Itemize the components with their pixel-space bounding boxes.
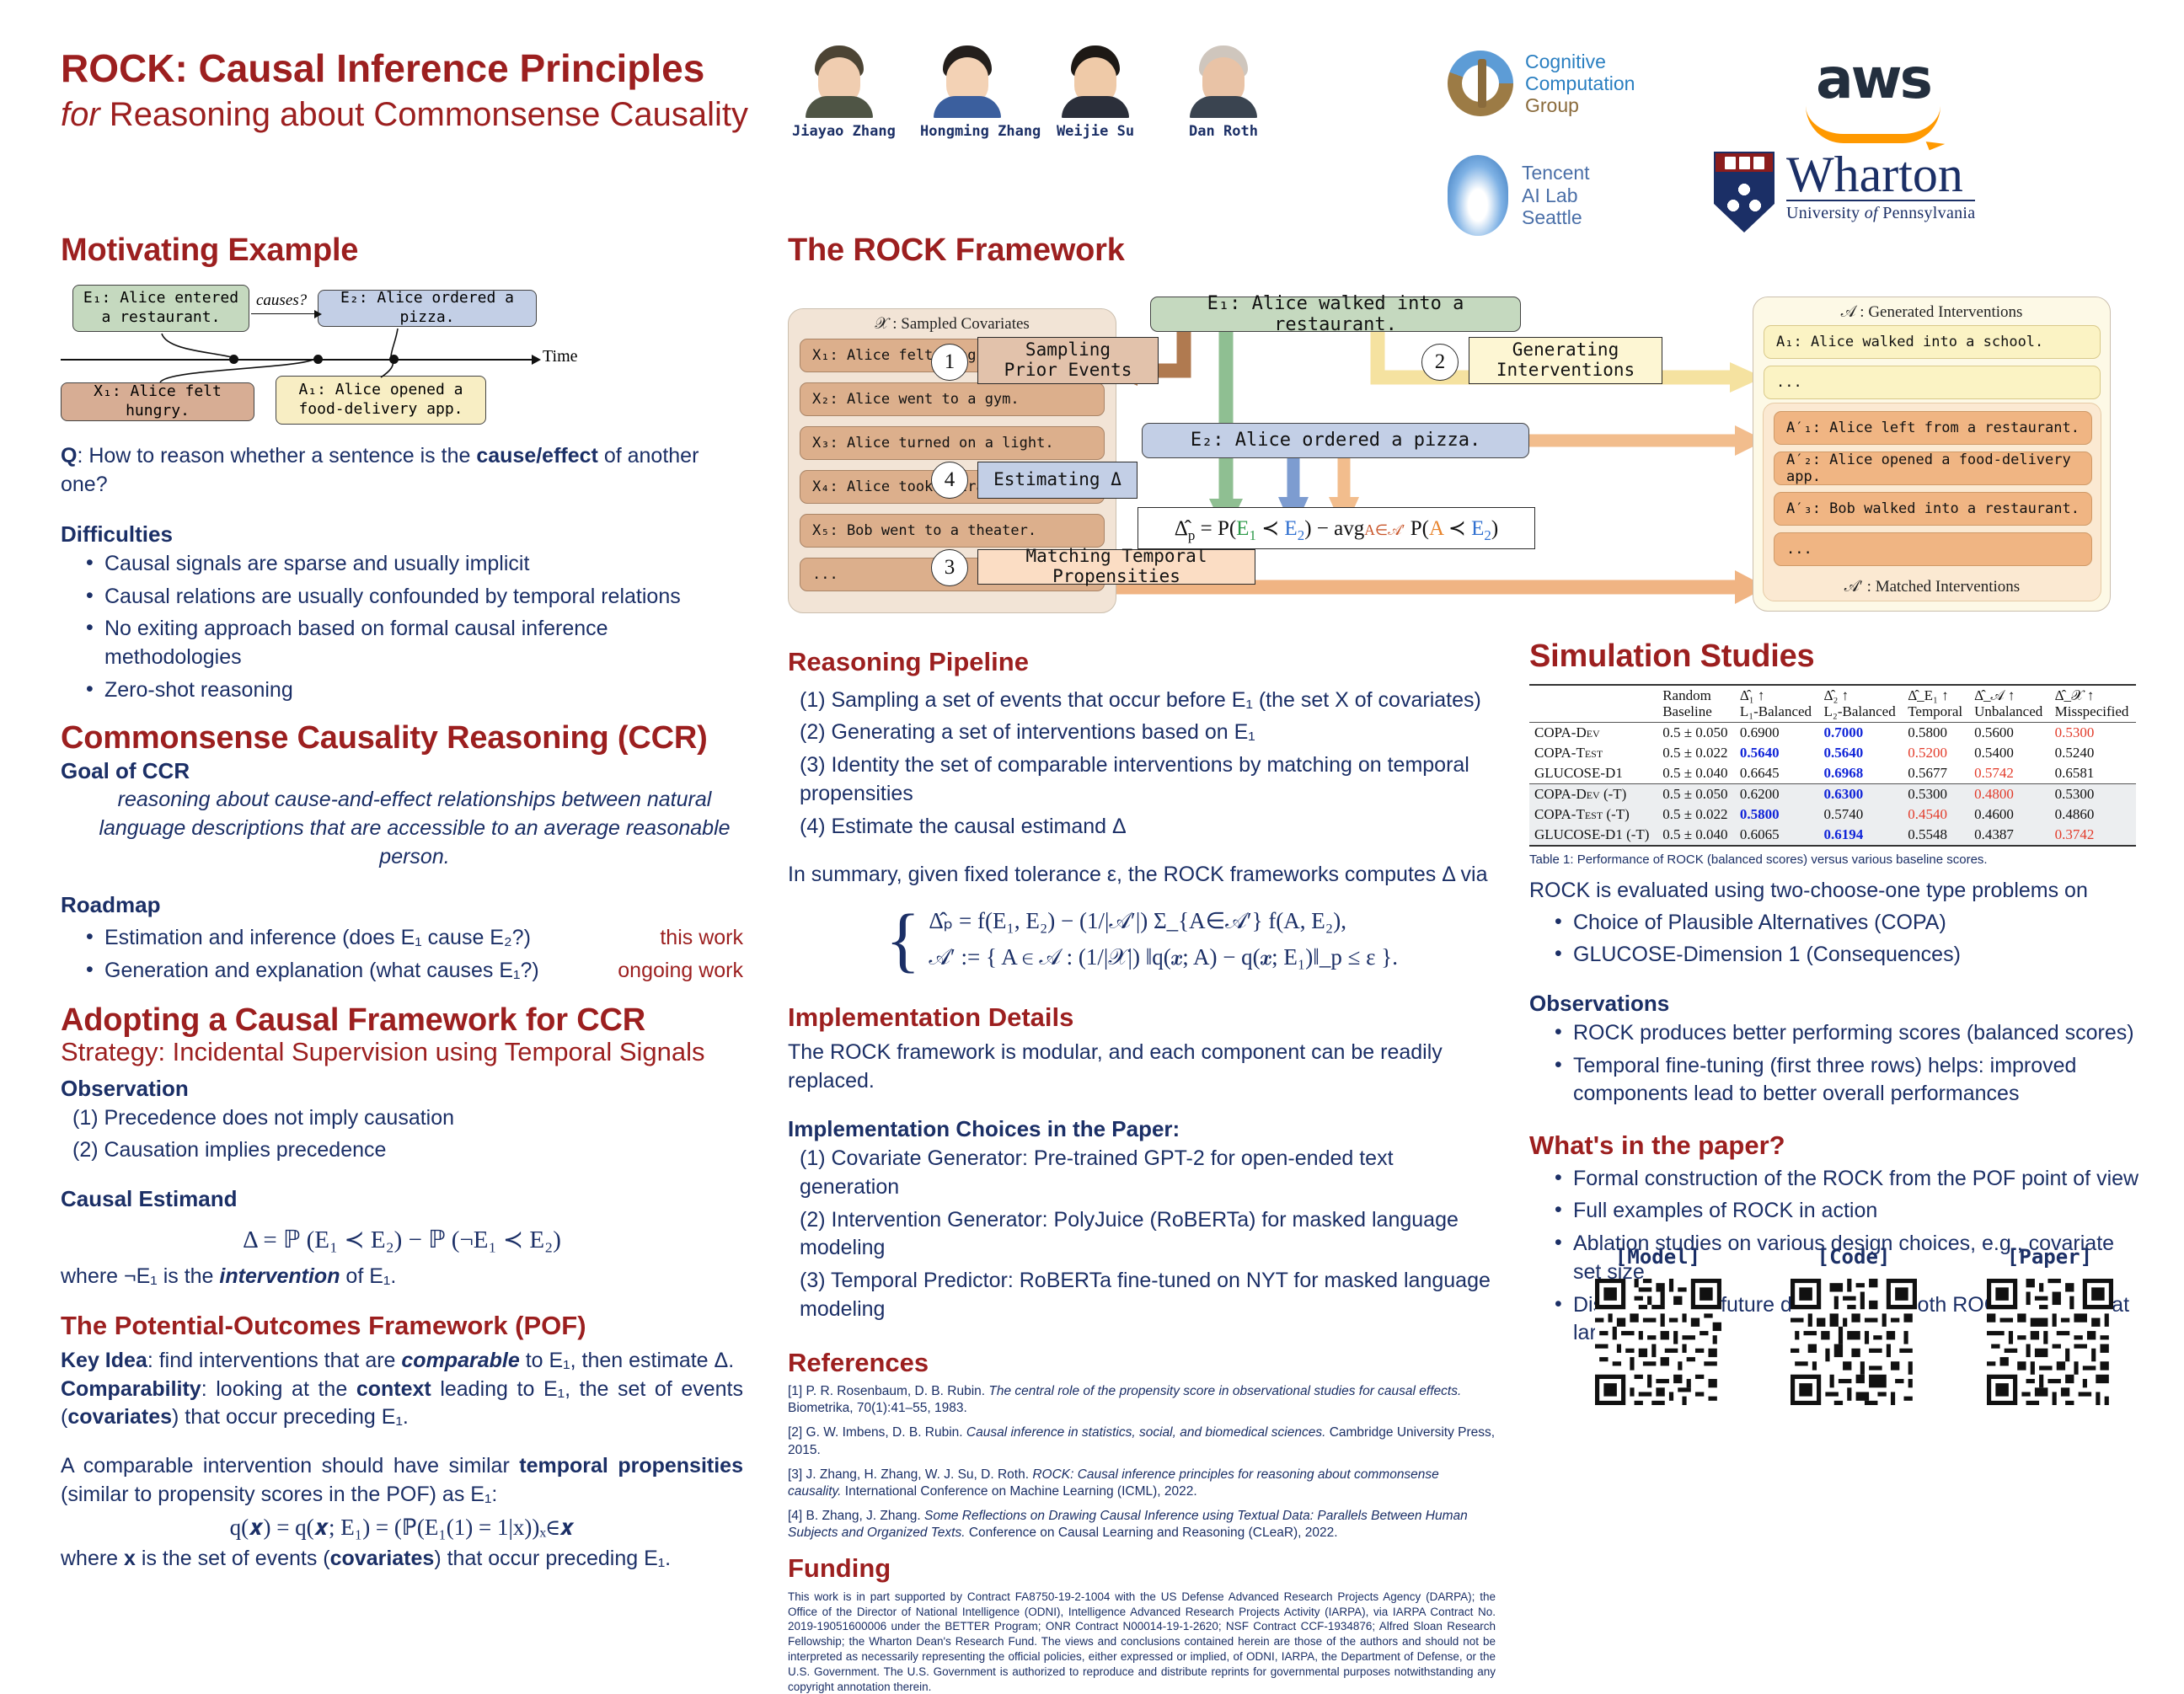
tencent-line-1: Tencent bbox=[1522, 162, 1590, 184]
subtitle-rest: Reasoning about Commonsense Causality bbox=[100, 96, 748, 133]
step-4-badge: 4 bbox=[931, 462, 968, 499]
tencent-logo-text: Tencent AI Lab Seattle bbox=[1522, 162, 1590, 229]
pof-paragraph-2: A comparable intervention should have si… bbox=[61, 1452, 743, 1510]
step-3-badge: 3 bbox=[931, 549, 968, 586]
diagram-box-e2: E₂: Alice ordered a pizza. bbox=[318, 290, 537, 327]
pipeline-summary: In summary, given fixed tolerance ε, the… bbox=[788, 861, 1496, 890]
qr-model[interactable]: [Model] bbox=[1584, 1245, 1732, 1409]
reference-item: [3] J. Zhang, H. Zhang, W. J. Su, D. Rot… bbox=[788, 1467, 1496, 1500]
row-label: GLUCOSE-D1 (-T) bbox=[1529, 825, 1657, 846]
list-item: GLUCOSE-Dimension 1 (Consequences) bbox=[1555, 941, 2144, 970]
framework-box-e2: E₂: Alice ordered a pizza. bbox=[1142, 423, 1529, 458]
avatar bbox=[804, 40, 875, 118]
step-4-box: Estimating Δ bbox=[977, 462, 1137, 499]
qr-code-label: [Code] bbox=[1780, 1245, 1928, 1269]
step-1-box: Sampling Prior Events bbox=[977, 337, 1159, 384]
roadmap-item-text: Generation and explanation (what causes … bbox=[104, 957, 539, 986]
key-idea-emphasis: comparable bbox=[401, 1349, 519, 1372]
ccg-mark-icon bbox=[1448, 51, 1513, 116]
col-header-random-baseline: RandomBaseline bbox=[1657, 685, 1735, 723]
col-header-delta-x: Δ̂_𝒳 ↑Misspecified bbox=[2050, 685, 2136, 723]
diagram-box-e1: E₁: Alice entered a restaurant. bbox=[72, 285, 249, 332]
wharton-wordmark: Wharton bbox=[1786, 152, 1975, 198]
list-item: Choice of Plausible Alternatives (COPA) bbox=[1555, 909, 2144, 938]
list-item: No exiting approach based on formal caus… bbox=[86, 615, 743, 672]
step-2-box: Generating Interventions bbox=[1469, 337, 1662, 384]
wharton-subtitle: University of Pennsylvania bbox=[1786, 200, 1975, 223]
row-label: COPA-Test bbox=[1529, 743, 1657, 763]
pof-comparability: Comparability: looking at the context le… bbox=[61, 1376, 743, 1433]
list-item: Temporal fine-tuning (first three rows) … bbox=[1555, 1052, 2144, 1109]
section-title-simulation-studies: Simulation Studies bbox=[1529, 640, 2144, 674]
cell: 0.4860 bbox=[2050, 804, 2136, 825]
question-q-label: Q bbox=[61, 444, 77, 468]
list-item: Causal relations are usually confounded … bbox=[86, 583, 743, 612]
roadmap-item-text: Estimation and inference (does E₁ cause … bbox=[104, 924, 531, 953]
poster-title-block: ROCK: Causal Inference Principles for Re… bbox=[61, 47, 819, 135]
roadmap-list: Estimation and inference (does E₁ cause … bbox=[61, 924, 743, 986]
qr-code-icon[interactable] bbox=[1791, 1279, 1917, 1405]
cell: 0.5300 bbox=[2050, 722, 2136, 743]
author-name: Jiayao Zhang bbox=[792, 123, 886, 140]
table-row: GLUCOSE-D1 0.5 ± 0.040 0.6645 0.6968 0.5… bbox=[1529, 763, 2136, 784]
list-item: (4) Estimate the causal estimand Δ bbox=[800, 813, 1496, 842]
question-emphasis: cause/effect bbox=[476, 444, 598, 468]
section-title-rock-framework-wrap: The ROCK Framework bbox=[788, 234, 1125, 268]
author-card: Weijie Su bbox=[1048, 40, 1143, 140]
ref-authors: G. W. Imbens, D. B. Rubin. bbox=[806, 1425, 966, 1440]
ref-authors: B. Zhang, J. Zhang. bbox=[806, 1509, 924, 1523]
key-idea-text: : find interventions that are bbox=[147, 1349, 402, 1372]
pof-note-x: x bbox=[124, 1547, 136, 1570]
timeline-tick bbox=[389, 355, 399, 364]
difficulties-heading: Difficulties bbox=[61, 522, 743, 547]
observation-heading: Observation bbox=[61, 1077, 743, 1101]
left-column: Motivating Example E₁: Alice entered a r… bbox=[61, 234, 743, 1573]
section-title-references: References bbox=[788, 1349, 1496, 1377]
matched-intervention-item: A′₂: Alice opened a food-delivery app. bbox=[1774, 452, 2092, 485]
pof-para2-a: A comparable intervention should have si… bbox=[61, 1454, 519, 1478]
qr-model-label: [Model] bbox=[1584, 1245, 1732, 1269]
col-header-blank bbox=[1529, 685, 1657, 723]
equation-brace: { bbox=[886, 911, 920, 969]
cell: 0.5240 bbox=[2050, 743, 2136, 763]
cell: 0.5 ± 0.050 bbox=[1657, 783, 1735, 804]
comparability-label: Comparability bbox=[61, 1377, 201, 1401]
list-item: (3) Identity the set of comparable inter… bbox=[800, 751, 1496, 809]
comparability-emphasis-a: context bbox=[356, 1377, 431, 1401]
page-subtitle: for Reasoning about Commonsense Causalit… bbox=[61, 94, 819, 135]
tencent-line-2: AI Lab bbox=[1522, 184, 1590, 207]
rock-framework-diagram: 𝒳 : Sampled Covariates X₁: Alice felt hu… bbox=[788, 297, 2111, 633]
funding-text: This work is in part supported by Contra… bbox=[788, 1590, 1496, 1694]
diagram-box-x1: X₁: Alice felt hungry. bbox=[61, 382, 254, 421]
list-item: (3) Temporal Predictor: RoBERTa fine-tun… bbox=[800, 1267, 1496, 1324]
cell: 0.5300 bbox=[1903, 783, 1969, 804]
timeline-label: Time bbox=[543, 347, 578, 366]
cell: 0.6300 bbox=[1819, 783, 1903, 804]
list-item: Estimation and inference (does E₁ cause … bbox=[86, 924, 743, 953]
table-row: COPA-Dev (-T) 0.5 ± 0.050 0.6200 0.6300 … bbox=[1529, 783, 2136, 804]
cell: 0.5600 bbox=[1969, 722, 2050, 743]
comparability-text-c: ) that occur preceding E₁. bbox=[172, 1405, 409, 1429]
list-item: Full examples of ROCK in action bbox=[1555, 1197, 2144, 1226]
pof-para2-emphasis: temporal propensities bbox=[519, 1454, 743, 1478]
section-title-whats-in-paper: What's in the paper? bbox=[1529, 1132, 2144, 1160]
cell: 0.5 ± 0.040 bbox=[1657, 825, 1735, 846]
ref-title: The central role of the propensity score… bbox=[988, 1384, 1461, 1398]
observations-list: ROCK produces better performing scores (… bbox=[1529, 1019, 2144, 1109]
col-header-delta2: Δ̂₂ ↑L₂-Balanced bbox=[1819, 685, 1903, 723]
page-title: ROCK: Causal Inference Principles bbox=[61, 47, 819, 91]
list-item: Causal signals are sparse and usually im… bbox=[86, 550, 743, 579]
ref-title: Causal inference in statistics, social, … bbox=[966, 1425, 1325, 1440]
estimand-note-a: where ¬E₁ is the bbox=[61, 1264, 219, 1288]
cell: 0.4800 bbox=[1969, 783, 2050, 804]
section-title-pof: The Potential-Outcomes Framework (POF) bbox=[61, 1312, 743, 1340]
subtitle-for: for bbox=[61, 96, 100, 133]
pof-note-b: is the set of events ( bbox=[136, 1547, 330, 1570]
ref-venue: International Conference on Machine Lear… bbox=[841, 1484, 1196, 1499]
cell: 0.5740 bbox=[1819, 804, 1903, 825]
tencent-ai-lab-logo: Tencent AI Lab Seattle bbox=[1448, 155, 1590, 236]
list-item: (2) Intervention Generator: PolyJuice (R… bbox=[800, 1206, 1496, 1264]
wharton-sub-a: University bbox=[1786, 204, 1865, 222]
row-label: COPA-Dev bbox=[1529, 722, 1657, 743]
qr-code-icon[interactable] bbox=[1987, 1279, 2113, 1405]
list-item: ROCK produces better performing scores (… bbox=[1555, 1019, 2144, 1048]
cognitive-computation-group-logo: Cognitive Computation Group bbox=[1448, 51, 1635, 117]
roadmap-heading: Roadmap bbox=[61, 893, 743, 917]
motivating-question: Q: How to reason whether a sentence is t… bbox=[61, 442, 743, 500]
cell: 0.5 ± 0.022 bbox=[1657, 804, 1735, 825]
comparability-text-a: : looking at the bbox=[201, 1377, 356, 1401]
list-item: (2) Causation implies precedence bbox=[72, 1136, 743, 1165]
cell: 0.5200 bbox=[1903, 743, 1969, 763]
pof-note-covariates: covariates bbox=[330, 1547, 435, 1570]
avatar bbox=[1188, 40, 1259, 118]
cell: 0.5640 bbox=[1735, 743, 1819, 763]
list-item: (1) Sampling a set of events that occur … bbox=[800, 687, 1496, 715]
pof-note-c: ) that occur preceding E₁. bbox=[434, 1547, 671, 1570]
cell: 0.3742 bbox=[2050, 825, 2136, 846]
observations-heading: Observations bbox=[1529, 991, 2144, 1016]
ref-venue: Conference on Causal Learning and Reason… bbox=[966, 1526, 1338, 1540]
table-row: COPA-Test (-T) 0.5 ± 0.022 0.5800 0.5740… bbox=[1529, 804, 2136, 825]
table-row: GLUCOSE-D1 (-T) 0.5 ± 0.040 0.6065 0.619… bbox=[1529, 825, 2136, 846]
causes-arrow-icon bbox=[251, 313, 315, 315]
sponsor-logos: Cognitive Computation Group aws Tencent … bbox=[1448, 44, 2138, 246]
author-name: Dan Roth bbox=[1176, 123, 1271, 140]
qr-code[interactable]: [Code] bbox=[1780, 1245, 1928, 1409]
evaluation-intro: ROCK is evaluated using two-choose-one t… bbox=[1529, 877, 2144, 906]
cell: 0.6200 bbox=[1735, 783, 1819, 804]
cell: 0.6968 bbox=[1819, 763, 1903, 784]
wharton-shield-icon bbox=[1714, 152, 1774, 232]
cell: 0.4387 bbox=[1969, 825, 2050, 846]
list-item: (1) Precedence does not imply causation bbox=[72, 1104, 743, 1133]
cell: 0.5800 bbox=[1735, 804, 1819, 825]
cell: 0.5300 bbox=[2050, 783, 2136, 804]
matched-intervention-item: A′₁: Alice left from a restaurant. bbox=[1774, 411, 2092, 445]
author-name: Hongming Zhang bbox=[920, 123, 1014, 140]
causal-estimand-formula: Δ = ℙ (E₁ ≺ E₂) − ℙ (¬E₁ ≺ E₂) bbox=[61, 1225, 743, 1254]
reference-item: [4] B. Zhang, J. Zhang. Some Reflections… bbox=[788, 1508, 1496, 1542]
equation-lines: Δ̂ₚ = f(E₁, E₂) − (1/|𝒜′|) Σ_{A∈𝒜′} f(A,… bbox=[929, 903, 1398, 975]
cell: 0.6194 bbox=[1819, 825, 1903, 846]
ref-authors: P. R. Rosenbaum, D. B. Rubin. bbox=[806, 1384, 989, 1398]
table-header-row: RandomBaseline Δ̂₁ ↑L₁-Balanced Δ̂₂ ↑L₂-… bbox=[1529, 685, 2136, 723]
ref-number: [2] bbox=[788, 1425, 802, 1440]
equation-line-1: Δ̂ₚ = f(E₁, E₂) − (1/|𝒜′|) Σ_{A∈𝒜′} f(A,… bbox=[929, 903, 1398, 939]
matched-interventions-caption: 𝒜′ : Matched Interventions bbox=[1763, 578, 2101, 596]
cell: 0.4540 bbox=[1903, 804, 1969, 825]
key-idea-tail: to E₁, then estimate Δ. bbox=[520, 1349, 734, 1372]
propensity-formula: q(𝒙) = q(𝒙; E₁) = (ℙ(E₁(1) = 1|x))ₓ∈𝒙 bbox=[61, 1515, 743, 1542]
timeline-axis bbox=[61, 359, 533, 361]
cell: 0.4600 bbox=[1969, 804, 2050, 825]
step-1-label: Sampling Prior Events bbox=[1004, 340, 1132, 380]
difficulties-list: Causal signals are sparse and usually im… bbox=[61, 550, 743, 705]
wharton-sub-b: Pennsylvania bbox=[1878, 204, 1976, 222]
ref-venue: Biometrika, 70(1):41–55, 1983. bbox=[788, 1401, 967, 1415]
author-card: Jiayao Zhang bbox=[792, 40, 886, 140]
row-label: GLUCOSE-D1 bbox=[1529, 763, 1657, 784]
aws-smile-icon bbox=[1806, 105, 1940, 143]
equation-line-2: 𝒜′ := { A ∈ 𝒜 : (1/|𝒳|) ‖q(𝒙; A) − q(𝒙; … bbox=[929, 939, 1398, 975]
cell: 0.7000 bbox=[1819, 722, 1903, 743]
aws-logo: aws bbox=[1776, 54, 1970, 143]
covariate-item: X₅: Bob went to a theater. bbox=[800, 514, 1105, 548]
observation-list: (1) Precedence does not imply causation … bbox=[61, 1104, 743, 1166]
ref-number: [3] bbox=[788, 1467, 802, 1482]
qr-code-icon[interactable] bbox=[1595, 1279, 1721, 1405]
cell: 0.5800 bbox=[1903, 722, 1969, 743]
table-body: COPA-Dev 0.5 ± 0.050 0.6900 0.7000 0.580… bbox=[1529, 722, 2136, 846]
cell: 0.5 ± 0.050 bbox=[1657, 722, 1735, 743]
comparability-emphasis-b: covariates bbox=[67, 1405, 172, 1429]
causal-estimand-note: where ¬E₁ is the intervention of E₁. bbox=[61, 1263, 743, 1291]
step-3-box: Matching Temporal Propensities bbox=[977, 549, 1255, 585]
wharton-wordmark-block: Wharton University of Pennsylvania bbox=[1786, 152, 1975, 223]
ccg-line-1: Cognitive bbox=[1525, 51, 1635, 72]
implementation-choices-list: (1) Covariate Generator: Pre-trained GPT… bbox=[788, 1145, 1496, 1324]
matched-intervention-item: ... bbox=[1774, 532, 2092, 566]
list-item: Generation and explanation (what causes … bbox=[86, 957, 743, 986]
strategy-line: Strategy: Incidental Supervision using T… bbox=[61, 1039, 743, 1066]
ref-authors: J. Zhang, H. Zhang, W. J. Su, D. Roth. bbox=[806, 1467, 1033, 1482]
table-caption: Table 1: Performance of ROCK (balanced s… bbox=[1529, 852, 2144, 867]
cell: 0.5 ± 0.022 bbox=[1657, 743, 1735, 763]
references-list: [1] P. R. Rosenbaum, D. B. Rubin. The ce… bbox=[788, 1383, 1496, 1542]
qr-paper-label: [Paper] bbox=[1976, 1245, 2123, 1269]
diagram-causes-label: causes? bbox=[256, 291, 307, 310]
simulation-results-table: RandomBaseline Δ̂₁ ↑L₁-Balanced Δ̂₂ ↑L₂-… bbox=[1529, 684, 2136, 847]
ref-number: [4] bbox=[788, 1509, 802, 1523]
pipeline-equation: { Δ̂ₚ = f(E₁, E₂) − (1/|𝒜′|) Σ_{A∈𝒜′} f(… bbox=[788, 903, 1496, 975]
pof-key-idea: Key Idea: find interventions that are co… bbox=[61, 1347, 743, 1376]
generated-intervention-item: ... bbox=[1764, 366, 2101, 399]
step-2-badge: 2 bbox=[1421, 344, 1459, 381]
question-text-a: : How to reason whether a sentence is th… bbox=[77, 444, 476, 468]
timeline-tick bbox=[229, 355, 238, 364]
roadmap-item-tag: ongoing work bbox=[618, 957, 743, 986]
ref-number: [1] bbox=[788, 1384, 802, 1398]
tencent-line-3: Seattle bbox=[1522, 206, 1590, 229]
list-item: (1) Covariate Generator: Pre-trained GPT… bbox=[800, 1145, 1496, 1202]
ccg-logo-text: Cognitive Computation Group bbox=[1525, 51, 1635, 117]
aws-wordmark: aws bbox=[1776, 54, 1970, 104]
causal-estimand-heading: Causal Estimand bbox=[61, 1187, 743, 1211]
section-title-funding: Funding bbox=[788, 1555, 1496, 1583]
section-title-implementation: Implementation Details bbox=[788, 1004, 1496, 1032]
cell: 0.6645 bbox=[1735, 763, 1819, 784]
table-row: COPA-Dev 0.5 ± 0.050 0.6900 0.7000 0.580… bbox=[1529, 722, 2136, 743]
pipeline-steps-list: (1) Sampling a set of events that occur … bbox=[788, 687, 1496, 842]
list-item: Zero-shot reasoning bbox=[86, 676, 743, 705]
table-row: COPA-Test 0.5 ± 0.022 0.5640 0.5640 0.52… bbox=[1529, 743, 2136, 763]
goal-of-ccr-text: reasoning about cause-and-effect relatio… bbox=[86, 786, 743, 871]
poster-canvas: ROCK: Causal Inference Principles for Re… bbox=[0, 0, 2184, 1456]
estimand-note-emphasis: intervention bbox=[219, 1264, 340, 1288]
key-idea-label: Key Idea bbox=[61, 1349, 147, 1372]
cell: 0.5548 bbox=[1903, 825, 1969, 846]
cell: 0.5677 bbox=[1903, 763, 1969, 784]
cell: 0.5400 bbox=[1969, 743, 2050, 763]
pof-note-a: where bbox=[61, 1547, 124, 1570]
qr-code-row: [Model] bbox=[1584, 1245, 2123, 1409]
section-title-rock-framework: The ROCK Framework bbox=[788, 234, 1125, 268]
covariate-item: X₂: Alice went to a gym. bbox=[800, 382, 1105, 416]
implementation-intro: The ROCK framework is modular, and each … bbox=[788, 1039, 1496, 1096]
cell: 0.5742 bbox=[1969, 763, 2050, 784]
pof-note: where x is the set of events (covariates… bbox=[61, 1545, 743, 1574]
section-title-adopting-framework: Adopting a Causal Framework for CCR bbox=[61, 1004, 743, 1038]
estimand-note-b: of E₁. bbox=[340, 1264, 396, 1288]
motivating-example-diagram: E₁: Alice entered a restaurant. E₂: Alic… bbox=[61, 281, 667, 437]
diagram-box-a1: A₁: Alice opened a food-delivery app. bbox=[276, 376, 486, 425]
col-header-delta-a: Δ̂_𝒜 ↑Unbalanced bbox=[1969, 685, 2050, 723]
sampled-covariates-caption: 𝒳 : Sampled Covariates bbox=[788, 315, 1116, 334]
cell: 0.5 ± 0.040 bbox=[1657, 763, 1735, 784]
implementation-choices-heading: Implementation Choices in the Paper: bbox=[788, 1117, 1496, 1141]
matched-intervention-item: A′₃: Bob walked into a restaurant. bbox=[1774, 492, 2092, 526]
reference-item: [2] G. W. Imbens, D. B. Rubin. Causal in… bbox=[788, 1424, 1496, 1458]
generated-interventions-caption: 𝒜 : Generated Interventions bbox=[1753, 303, 2111, 322]
ccg-line-2: Computation bbox=[1525, 72, 1635, 94]
col-header-delta-e1: Δ̂_E₁ ↑Temporal bbox=[1903, 685, 1969, 723]
section-title-ccr: Commonsense Causality Reasoning (CCR) bbox=[61, 722, 743, 756]
avatar bbox=[932, 40, 1003, 118]
roadmap-item-tag: this work bbox=[660, 924, 743, 953]
goal-of-ccr-heading: Goal of CCR bbox=[61, 759, 743, 783]
covariate-item: X₃: Alice turned on a light. bbox=[800, 426, 1105, 460]
framework-box-e1: E₁: Alice walked into a restaurant. bbox=[1150, 297, 1521, 332]
ccg-line-3: Group bbox=[1525, 94, 1635, 116]
wharton-sub-of: of bbox=[1865, 204, 1878, 222]
cell: 0.6900 bbox=[1735, 722, 1819, 743]
timeline-tick bbox=[313, 355, 323, 364]
row-label: COPA-Test (-T) bbox=[1529, 804, 1657, 825]
list-item: Formal construction of the ROCK from the… bbox=[1555, 1165, 2144, 1194]
cell: 0.5640 bbox=[1819, 743, 1903, 763]
section-title-motivating-example: Motivating Example bbox=[61, 234, 743, 268]
framework-equation-box: Δ̂p = P(E1 ≺ E2) − avgA∈𝒜′ P(A ≺ E2) bbox=[1137, 507, 1535, 549]
author-card: Dan Roth bbox=[1176, 40, 1271, 140]
table-head: RandomBaseline Δ̂₁ ↑L₁-Balanced Δ̂₂ ↑L₂-… bbox=[1529, 685, 2136, 723]
reference-item: [1] P. R. Rosenbaum, D. B. Rubin. The ce… bbox=[788, 1383, 1496, 1417]
datasets-list: Choice of Plausible Alternatives (COPA) … bbox=[1529, 909, 2144, 970]
tencent-mark-icon bbox=[1448, 155, 1508, 236]
wharton-logo: Wharton University of Pennsylvania bbox=[1714, 152, 1975, 232]
author-list: Jiayao Zhang Hongming Zhang Weijie Su bbox=[792, 40, 1271, 140]
step-1-badge: 1 bbox=[931, 344, 968, 381]
step-2-label: Generating Interventions bbox=[1496, 340, 1635, 380]
cell: 0.6581 bbox=[2050, 763, 2136, 784]
pof-para2-b: (similar to propensity scores in the POF… bbox=[61, 1483, 497, 1506]
generated-intervention-item: A₁: Alice walked into a school. bbox=[1764, 325, 2101, 359]
row-label: COPA-Dev (-T) bbox=[1529, 783, 1657, 804]
author-card: Hongming Zhang bbox=[920, 40, 1014, 140]
col-header-delta1: Δ̂₁ ↑L₁-Balanced bbox=[1735, 685, 1819, 723]
list-item: (2) Generating a set of interventions ba… bbox=[800, 719, 1496, 747]
qr-paper[interactable]: [Paper] bbox=[1976, 1245, 2123, 1409]
cell: 0.6065 bbox=[1735, 825, 1819, 846]
author-name: Weijie Su bbox=[1048, 123, 1143, 140]
section-title-reasoning-pipeline: Reasoning Pipeline bbox=[788, 649, 1496, 676]
avatar bbox=[1060, 40, 1131, 118]
middle-column: Reasoning Pipeline (1) Sampling a set of… bbox=[788, 649, 1496, 1694]
